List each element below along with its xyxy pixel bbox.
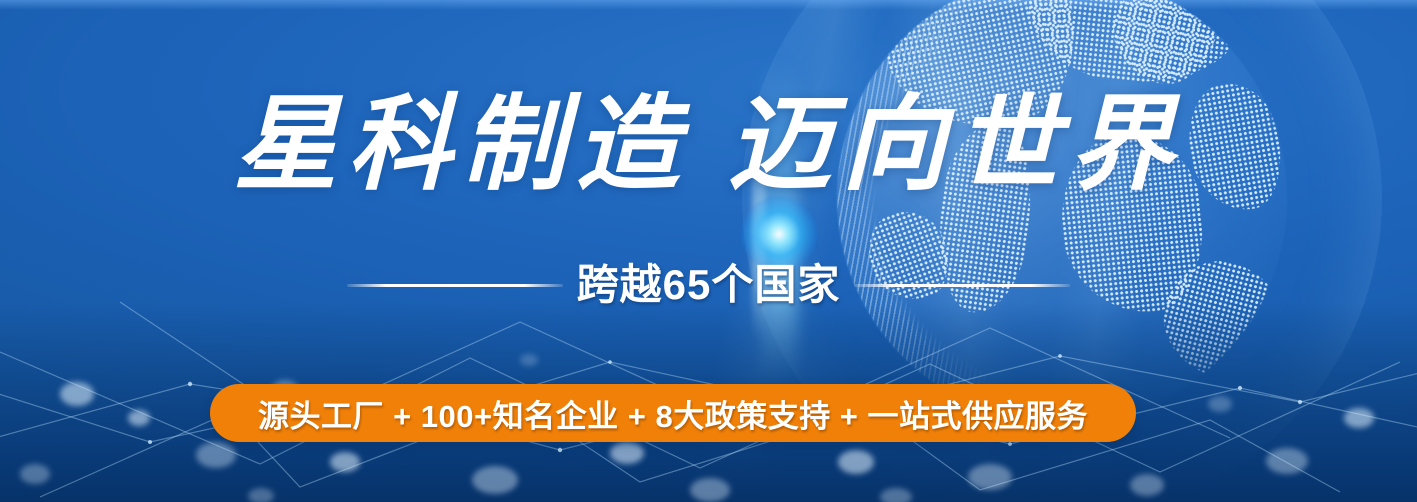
promo-banner: 星科制造迈向世界 跨越65个国家 源头工厂 + 100+知名企业 + 8大政策支…	[0, 0, 1417, 502]
subtitle-rule-right	[854, 284, 1070, 287]
page-title: 星科制造迈向世界	[0, 92, 1417, 196]
features-badge-label: 源头工厂 + 100+知名企业 + 8大政策支持 + 一站式供应服务	[258, 391, 1088, 436]
title-part-1: 星科制造	[233, 82, 689, 205]
subtitle-text: 跨越65个国家	[577, 262, 841, 308]
subtitle-row: 跨越65个国家	[0, 262, 1417, 308]
title-part-2: 迈向世界	[728, 82, 1184, 205]
features-badge[interactable]: 源头工厂 + 100+知名企业 + 8大政策支持 + 一站式供应服务	[210, 384, 1136, 442]
subtitle-rule-left	[347, 284, 563, 287]
